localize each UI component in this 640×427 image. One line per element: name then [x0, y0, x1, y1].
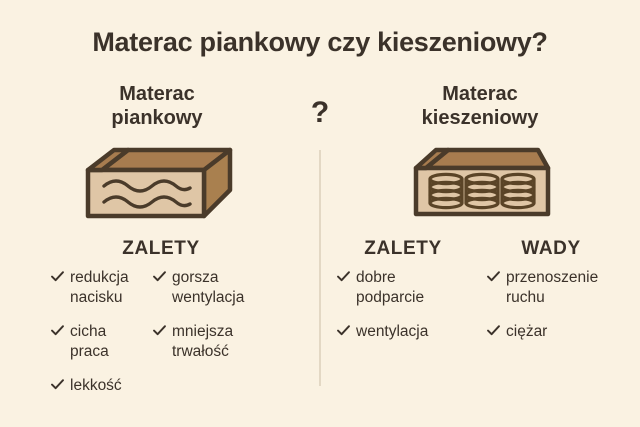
- check-icon: [486, 269, 501, 289]
- check-icon: [486, 323, 501, 343]
- list-item-label: wentylacja: [356, 322, 428, 342]
- list-item-label: mniejsza trwałość: [172, 322, 233, 362]
- pocket-lists: dobre podparcie wentylacja przenoszenie …: [332, 268, 628, 356]
- list-item-label: przenoszenie ruchu: [506, 268, 598, 308]
- list-item-label: cicha praca: [70, 322, 109, 362]
- pocket-mattress-illustration-wrap: [332, 138, 628, 228]
- infographic-root: Materac piankowy czy kieszeniowy? ? Mate…: [0, 0, 640, 427]
- foam-mattress-illustration-wrap: [12, 138, 302, 228]
- check-icon: [152, 323, 167, 343]
- list-item-label: redukcja nacisku: [70, 268, 129, 308]
- pocket-section-heading-wady: WADY: [474, 238, 628, 260]
- list-item: lekkość: [50, 376, 142, 396]
- list-item: cicha praca: [50, 322, 142, 362]
- list-item: dobre podparcie: [336, 268, 480, 308]
- check-icon: [336, 269, 351, 289]
- list-item: gorsza wentylacja: [152, 268, 302, 308]
- check-icon: [152, 269, 167, 289]
- foam-mattress-icon: [80, 142, 240, 228]
- list-item: ciężar: [486, 322, 628, 342]
- check-icon: [50, 323, 65, 343]
- pocket-list-column-wady: przenoszenie ruchu ciężar: [480, 268, 628, 356]
- foam-section-headings: ZALETY: [12, 238, 302, 260]
- pocket-section-headings: ZALETY WADY: [332, 238, 628, 260]
- foam-list-column-2: gorsza wentylacja mniejsza trwałość: [142, 268, 302, 410]
- list-item: mniejsza trwałość: [152, 322, 302, 362]
- foam-mattress-title-line2: piankowy: [12, 106, 302, 130]
- check-icon: [50, 377, 65, 397]
- list-item: wentylacja: [336, 322, 480, 342]
- pocket-mattress-title: Materac kieszeniowy: [332, 82, 628, 130]
- column-divider: [319, 150, 321, 386]
- pocket-mattress-title-line2: kieszeniowy: [332, 106, 628, 130]
- list-item-label: dobre podparcie: [356, 268, 424, 308]
- list-item: przenoszenie ruchu: [486, 268, 628, 308]
- foam-lists: redukcja nacisku cicha praca lekkość: [12, 268, 302, 410]
- list-item: redukcja nacisku: [50, 268, 142, 308]
- pocket-spring-mattress-icon: [406, 142, 558, 228]
- pocket-mattress-section: Materac kieszeniowy: [332, 82, 628, 356]
- foam-mattress-title-line1: Materac: [12, 82, 302, 106]
- pocket-section-heading-zalety: ZALETY: [332, 238, 474, 260]
- foam-mattress-section: Materac piankowy ZALETY: [12, 82, 302, 410]
- list-item-label: ciężar: [506, 322, 547, 342]
- pocket-mattress-title-line1: Materac: [332, 82, 628, 106]
- foam-section-heading-zalety: ZALETY: [12, 238, 302, 260]
- foam-list-column-1: redukcja nacisku cicha praca lekkość: [12, 268, 142, 410]
- foam-mattress-title: Materac piankowy: [12, 82, 302, 130]
- pocket-list-column-zalety: dobre podparcie wentylacja: [332, 268, 480, 356]
- page-title: Materac piankowy czy kieszeniowy?: [0, 27, 640, 58]
- list-item-label: lekkość: [70, 376, 122, 396]
- list-item-label: gorsza wentylacja: [172, 268, 244, 308]
- check-icon: [336, 323, 351, 343]
- check-icon: [50, 269, 65, 289]
